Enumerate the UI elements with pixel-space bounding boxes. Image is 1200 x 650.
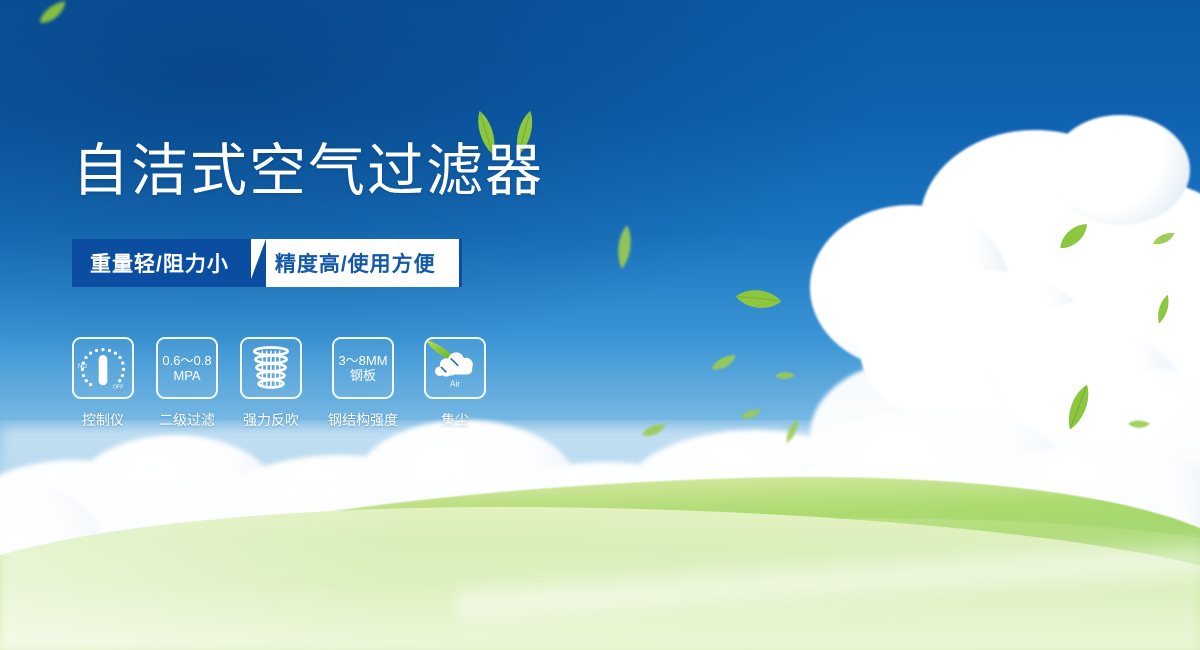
air-label: Air [450,379,460,388]
feature-icon-box: 3～8MM 钢板 [332,337,394,399]
svg-text:NO: NO [78,364,87,370]
feature-item-controller: NO OFF 控制仪 [72,337,134,430]
svg-text:OFF: OFF [113,385,124,391]
subtitle-bar: 重量轻/阻力小 精度高/使用方便 [72,239,462,287]
feature-label: 钢结构强度 [324,410,402,430]
gauge-dial-icon: NO OFF [76,341,130,395]
subtitle-right-badge: 精度高/使用方便 [251,239,462,287]
air-cloud-icon: Air [428,341,482,395]
feature-icon-box: Air [424,337,486,399]
feature-label: 强力反吹 [240,410,302,430]
product-banner: 自洁式空气过滤器 重量轻/阻力小 精度高/使用方便 [0,0,1200,650]
banner-content: 自洁式空气过滤器 重量轻/阻力小 精度高/使用方便 [0,0,1200,650]
page-title: 自洁式空气过滤器 [72,143,544,200]
feature-label: 控制仪 [72,410,134,430]
feature-list: NO OFF 控制仪 0.6～0.8 MPA 二级过滤 [72,337,486,430]
feature-item-steel: 3～8MM 钢板 钢结构强度 [324,337,402,430]
feature-icon-box [240,337,302,399]
feature-label: 集尘 [424,410,486,430]
subtitle-left-badge: 重量轻/阻力小 [72,239,251,287]
feature-item-blowback: 强力反吹 [240,337,302,430]
feature-icon-box: NO OFF [72,337,134,399]
feature-item-pressure: 0.6～0.8 MPA 二级过滤 [156,337,218,430]
filter-coil-icon [244,341,298,395]
steel-plate-text-icon: 3～8MM 钢板 [338,353,387,383]
pressure-text-icon: 0.6～0.8 MPA [162,353,211,383]
feature-icon-box: 0.6～0.8 MPA [156,337,218,399]
feature-label: 二级过滤 [156,410,218,430]
feature-item-dustcollect: Air 集尘 [424,337,486,430]
